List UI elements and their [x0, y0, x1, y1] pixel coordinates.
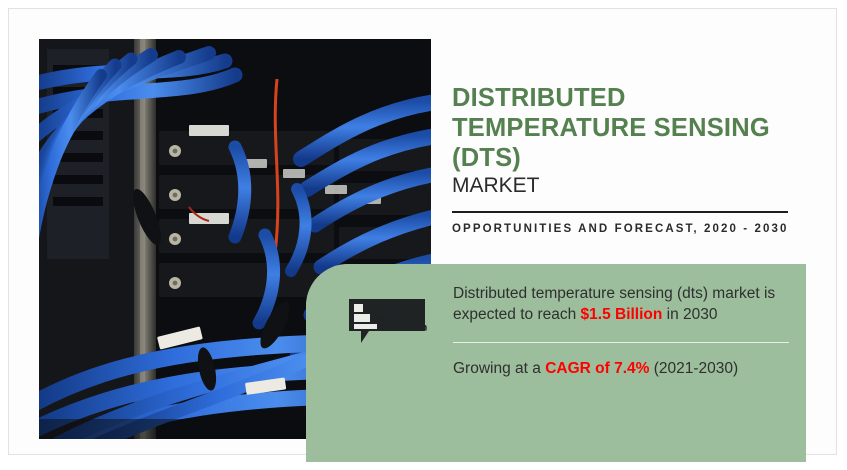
stats-text-group: Distributed temperature sensing (dts) ma… — [453, 284, 793, 380]
cagr-suffix: (2021-2030) — [649, 360, 738, 377]
page-title: DISTRIBUTED TEMPERATURE SENSING (DTS) — [452, 83, 797, 173]
stats-panel: Distributed temperature sensing (dts) ma… — [306, 264, 806, 462]
cagr-statement: Growing at a CAGR of 7.4% (2021-2030) — [453, 359, 793, 380]
market-report-card: Distributed temperature sensing (dts) ma… — [8, 8, 837, 455]
market-value-suffix: in 2030 — [662, 306, 717, 323]
market-value-statement: Distributed temperature sensing (dts) ma… — [453, 284, 793, 325]
logo-line-3: Research — [380, 322, 427, 334]
cagr-prefix: Growing at a — [453, 360, 545, 377]
title-divider — [452, 211, 788, 213]
forecast-label: OPPORTUNITIES AND FORECAST, 2020 - 2030 — [452, 221, 797, 238]
poster-page: Distributed temperature sensing (dts) ma… — [0, 0, 847, 470]
allied-market-research-logo: Allied Market Research — [347, 297, 427, 345]
logo-artwork: Allied Market Research — [347, 297, 427, 345]
page-subtitle: MARKET — [452, 173, 540, 198]
market-value-highlight: $1.5 Billion — [581, 306, 663, 323]
stats-divider — [453, 342, 789, 343]
cagr-highlight: CAGR of 7.4% — [545, 360, 649, 377]
